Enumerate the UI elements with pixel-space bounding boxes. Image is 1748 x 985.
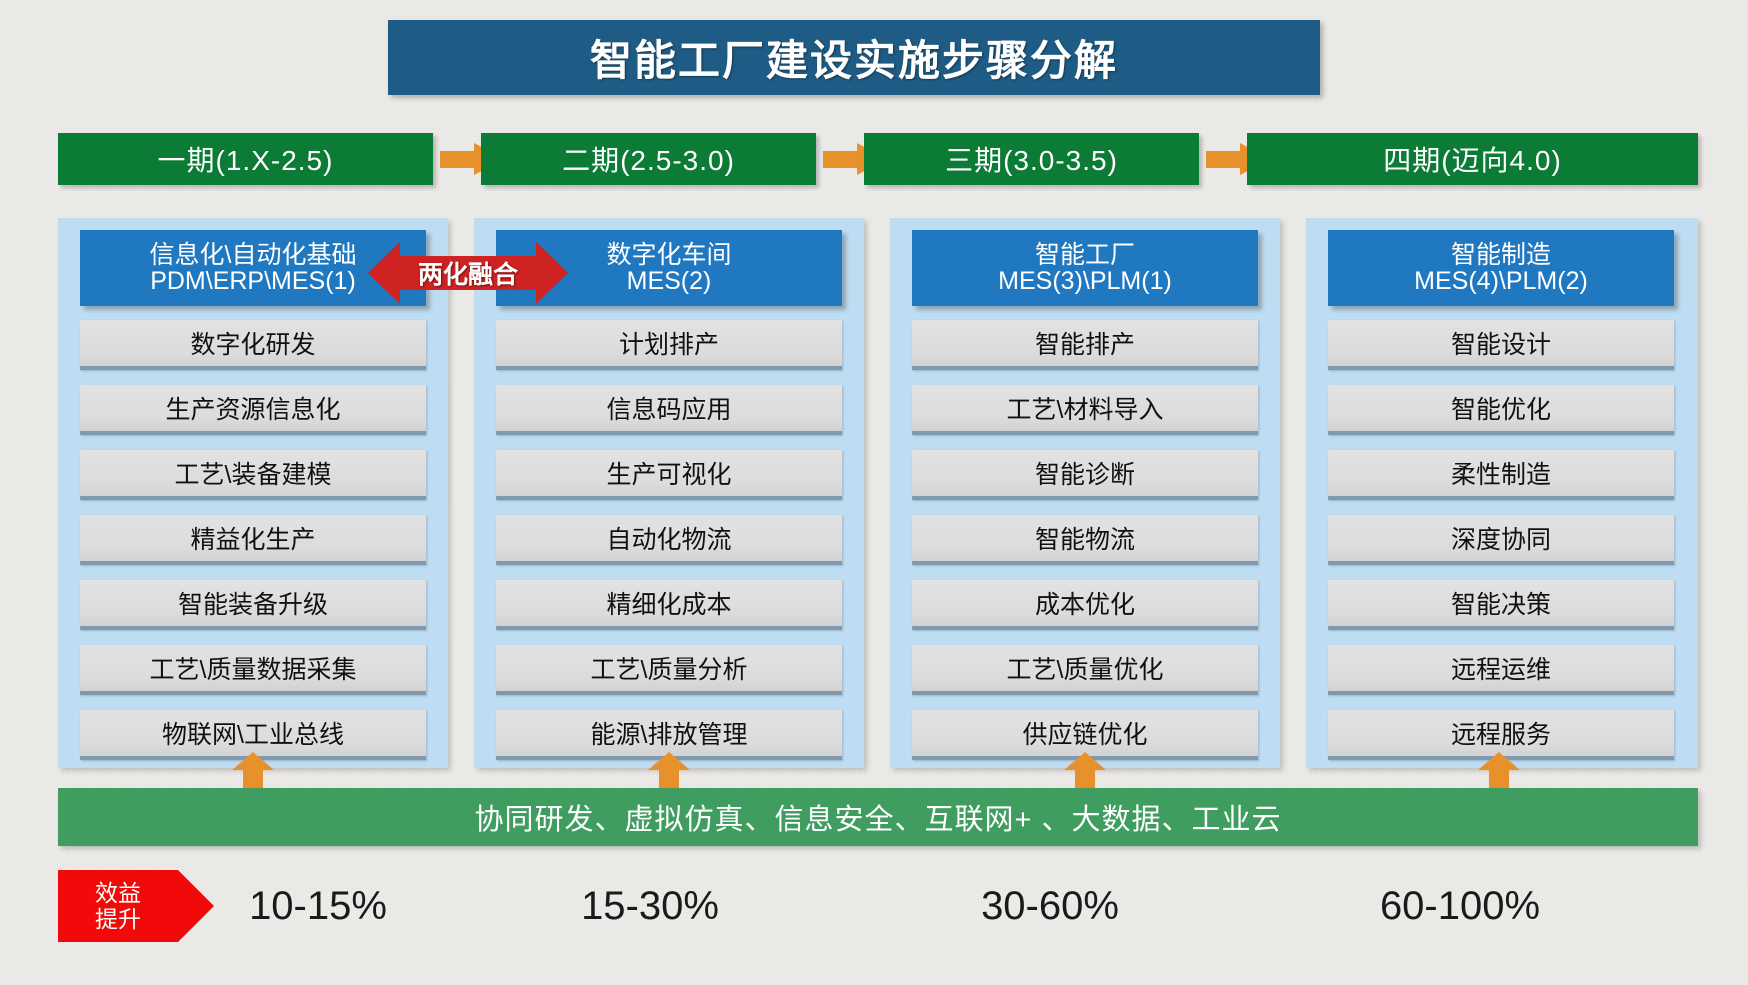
list-item[interactable]: 成本优化 — [912, 580, 1258, 630]
benefit-value-text: 10-15% — [249, 884, 387, 929]
list-item[interactable]: 生产资源信息化 — [80, 385, 426, 435]
benefit-tag-line2: 提升 — [95, 906, 141, 932]
column-header-line1: 智能工厂 — [1035, 242, 1135, 269]
benefit-value-4: 60-100% — [1300, 872, 1620, 940]
list-item-label: 工艺\质量分析 — [591, 650, 748, 686]
column-header-line1: 智能制造 — [1451, 242, 1551, 269]
double-arrow-icon-right-head — [536, 242, 568, 304]
column-header-line2: MES(2) — [627, 268, 712, 295]
page-title-text: 智能工厂建设实施步骤分解 — [590, 27, 1118, 88]
list-item[interactable]: 智能优化 — [1328, 385, 1674, 435]
benefit-tag-line1: 效益 — [95, 880, 141, 906]
list-item[interactable]: 智能诊断 — [912, 450, 1258, 500]
list-item[interactable]: 智能物流 — [912, 515, 1258, 565]
list-item-label: 工艺\材料导入 — [1007, 390, 1164, 426]
list-item-label: 智能诊断 — [1035, 455, 1135, 491]
list-item[interactable]: 工艺\质量优化 — [912, 645, 1258, 695]
arrow-shaft — [440, 151, 474, 168]
list-item[interactable]: 智能装备升级 — [80, 580, 426, 630]
phase-column-3: 智能工厂 MES(3)\PLM(1) 智能排产 工艺\材料导入 智能诊断 智能物… — [890, 218, 1280, 768]
foundation-label: 协同研发、虚拟仿真、信息安全、互联网+ 、大数据、工业云 — [475, 796, 1282, 838]
phase-chip-3[interactable]: 三期(3.0-3.5) — [864, 133, 1199, 185]
column-header-line1: 数字化车间 — [606, 242, 731, 269]
list-item[interactable]: 工艺\质量数据采集 — [80, 645, 426, 695]
phase-label-4: 四期(迈向4.0) — [1383, 139, 1562, 179]
list-item-label: 计划排产 — [619, 325, 719, 361]
list-item[interactable]: 深度协同 — [1328, 515, 1674, 565]
list-item-label: 精益化生产 — [190, 520, 315, 556]
phase-timeline: 一期(1.X-2.5) 二期(2.5-3.0) 三期(3.0-3.5) 四期(迈… — [58, 133, 1698, 185]
phase-columns: 信息化\自动化基础 PDM\ERP\MES(1) 数字化研发 生产资源信息化 工… — [58, 218, 1698, 768]
list-item-label: 深度协同 — [1451, 520, 1551, 556]
benefit-value-text: 15-30% — [581, 884, 719, 929]
list-item-label: 智能决策 — [1451, 585, 1551, 621]
benefit-value-2: 15-30% — [500, 872, 800, 940]
list-item-label: 工艺\质量数据采集 — [150, 650, 357, 686]
list-item-label: 智能装备升级 — [178, 585, 328, 621]
fusion-badge: 两化融合 — [368, 242, 568, 304]
list-item[interactable]: 自动化物流 — [496, 515, 842, 565]
list-item[interactable]: 精细化成本 — [496, 580, 842, 630]
list-item-label: 智能设计 — [1451, 325, 1551, 361]
list-item-label: 数字化研发 — [190, 325, 315, 361]
list-item-label: 自动化物流 — [606, 520, 731, 556]
benefits-row: 效益 提升 10-15% 15-30% 30-60% 60-100% — [0, 862, 1748, 962]
list-item-label: 成本优化 — [1035, 585, 1135, 621]
page-title: 智能工厂建设实施步骤分解 — [388, 20, 1320, 95]
list-item[interactable]: 智能排产 — [912, 320, 1258, 370]
list-item-label: 远程运维 — [1451, 650, 1551, 686]
column-header-line2: MES(4)\PLM(2) — [1414, 268, 1588, 295]
list-item[interactable]: 工艺\装备建模 — [80, 450, 426, 500]
list-item-label: 物联网\工业总线 — [162, 715, 344, 751]
fusion-label: 两化融合 — [418, 255, 518, 291]
benefit-tag: 效益 提升 — [58, 870, 178, 942]
column-header-4[interactable]: 智能制造 MES(4)\PLM(2) — [1328, 230, 1674, 306]
phase-chip-4[interactable]: 四期(迈向4.0) — [1247, 133, 1698, 185]
column-header-line1: 信息化\自动化基础 — [150, 242, 357, 269]
arrow-shaft — [823, 151, 857, 168]
phase-label-3: 三期(3.0-3.5) — [945, 139, 1118, 179]
list-item-label: 生产资源信息化 — [165, 390, 340, 426]
column-item-list-3: 智能排产 工艺\材料导入 智能诊断 智能物流 成本优化 工艺\质量优化 供应链优… — [912, 320, 1258, 775]
column-item-list-4: 智能设计 智能优化 柔性制造 深度协同 智能决策 远程运维 远程服务 — [1328, 320, 1674, 775]
column-item-list-1: 数字化研发 生产资源信息化 工艺\装备建模 精益化生产 智能装备升级 工艺\质量… — [80, 320, 426, 775]
list-item[interactable]: 远程运维 — [1328, 645, 1674, 695]
column-item-list-2: 计划排产 信息码应用 生产可视化 自动化物流 精细化成本 工艺\质量分析 能源\… — [496, 320, 842, 775]
list-item[interactable]: 生产可视化 — [496, 450, 842, 500]
list-item-label: 供应链优化 — [1022, 715, 1147, 751]
column-header-3[interactable]: 智能工厂 MES(3)\PLM(1) — [912, 230, 1258, 306]
list-item[interactable]: 数字化研发 — [80, 320, 426, 370]
phase-column-4: 智能制造 MES(4)\PLM(2) 智能设计 智能优化 柔性制造 深度协同 智… — [1306, 218, 1698, 768]
list-item-label: 智能排产 — [1035, 325, 1135, 361]
list-item-label: 工艺\装备建模 — [175, 455, 332, 491]
list-item-label: 生产可视化 — [606, 455, 731, 491]
list-item-label: 智能优化 — [1451, 390, 1551, 426]
double-arrow-icon-left-head — [368, 242, 400, 304]
benefit-value-text: 60-100% — [1380, 884, 1540, 929]
phase-chip-2[interactable]: 二期(2.5-3.0) — [481, 133, 816, 185]
list-item-label: 远程服务 — [1451, 715, 1551, 751]
list-item-label: 信息码应用 — [606, 390, 731, 426]
list-item-label: 工艺\质量优化 — [1007, 650, 1164, 686]
list-item[interactable]: 精益化生产 — [80, 515, 426, 565]
phase-chip-1[interactable]: 一期(1.X-2.5) — [58, 133, 433, 185]
arrow-shaft — [1206, 151, 1240, 168]
column-header-line2: MES(3)\PLM(1) — [998, 268, 1172, 295]
phase-label-1: 一期(1.X-2.5) — [158, 139, 334, 179]
list-item-label: 精细化成本 — [606, 585, 731, 621]
list-item[interactable]: 计划排产 — [496, 320, 842, 370]
phase-label-2: 二期(2.5-3.0) — [562, 139, 735, 179]
list-item-label: 能源\排放管理 — [591, 715, 748, 751]
list-item[interactable]: 柔性制造 — [1328, 450, 1674, 500]
foundation-banner: 协同研发、虚拟仿真、信息安全、互联网+ 、大数据、工业云 — [58, 788, 1698, 846]
list-item[interactable]: 信息码应用 — [496, 385, 842, 435]
list-item[interactable]: 工艺\材料导入 — [912, 385, 1258, 435]
list-item[interactable]: 智能设计 — [1328, 320, 1674, 370]
column-header-line2: PDM\ERP\MES(1) — [150, 268, 356, 295]
benefit-value-3: 30-60% — [900, 872, 1200, 940]
list-item[interactable]: 智能决策 — [1328, 580, 1674, 630]
benefit-value-text: 30-60% — [981, 884, 1119, 929]
list-item[interactable]: 工艺\质量分析 — [496, 645, 842, 695]
benefit-value-1: 10-15% — [178, 872, 458, 940]
list-item-label: 智能物流 — [1035, 520, 1135, 556]
list-item-label: 柔性制造 — [1451, 455, 1551, 491]
